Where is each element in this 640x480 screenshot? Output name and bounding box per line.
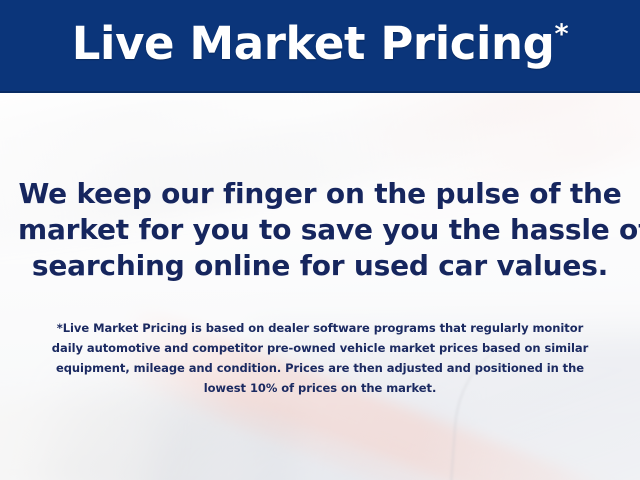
disclaimer-line-1: *Live Market Pricing is based on dealer …: [26, 318, 614, 338]
page-title-asterisk: *: [555, 19, 569, 50]
headline-line-3: searching online for used car values.: [18, 248, 622, 284]
header-band: Live Market Pricing*: [0, 0, 640, 93]
headline-line-2: market for you to save you the hassle of: [18, 212, 622, 248]
disclaimer-line-2: daily automotive and competitor pre-owne…: [26, 338, 614, 358]
live-market-pricing-banner: Live Market Pricing* We keep our finger …: [0, 0, 640, 480]
headline-block: We keep our finger on the pulse of the m…: [0, 176, 640, 284]
disclaimer-block: *Live Market Pricing is based on dealer …: [0, 318, 640, 398]
disclaimer-line-3: equipment, mileage and condition. Prices…: [26, 358, 614, 378]
page-title-text: Live Market Pricing: [72, 17, 555, 70]
headline-line-1: We keep our finger on the pulse of the: [18, 176, 622, 212]
page-title: Live Market Pricing*: [72, 21, 568, 70]
disclaimer-line-4: lowest 10% of prices on the market.: [26, 378, 614, 398]
